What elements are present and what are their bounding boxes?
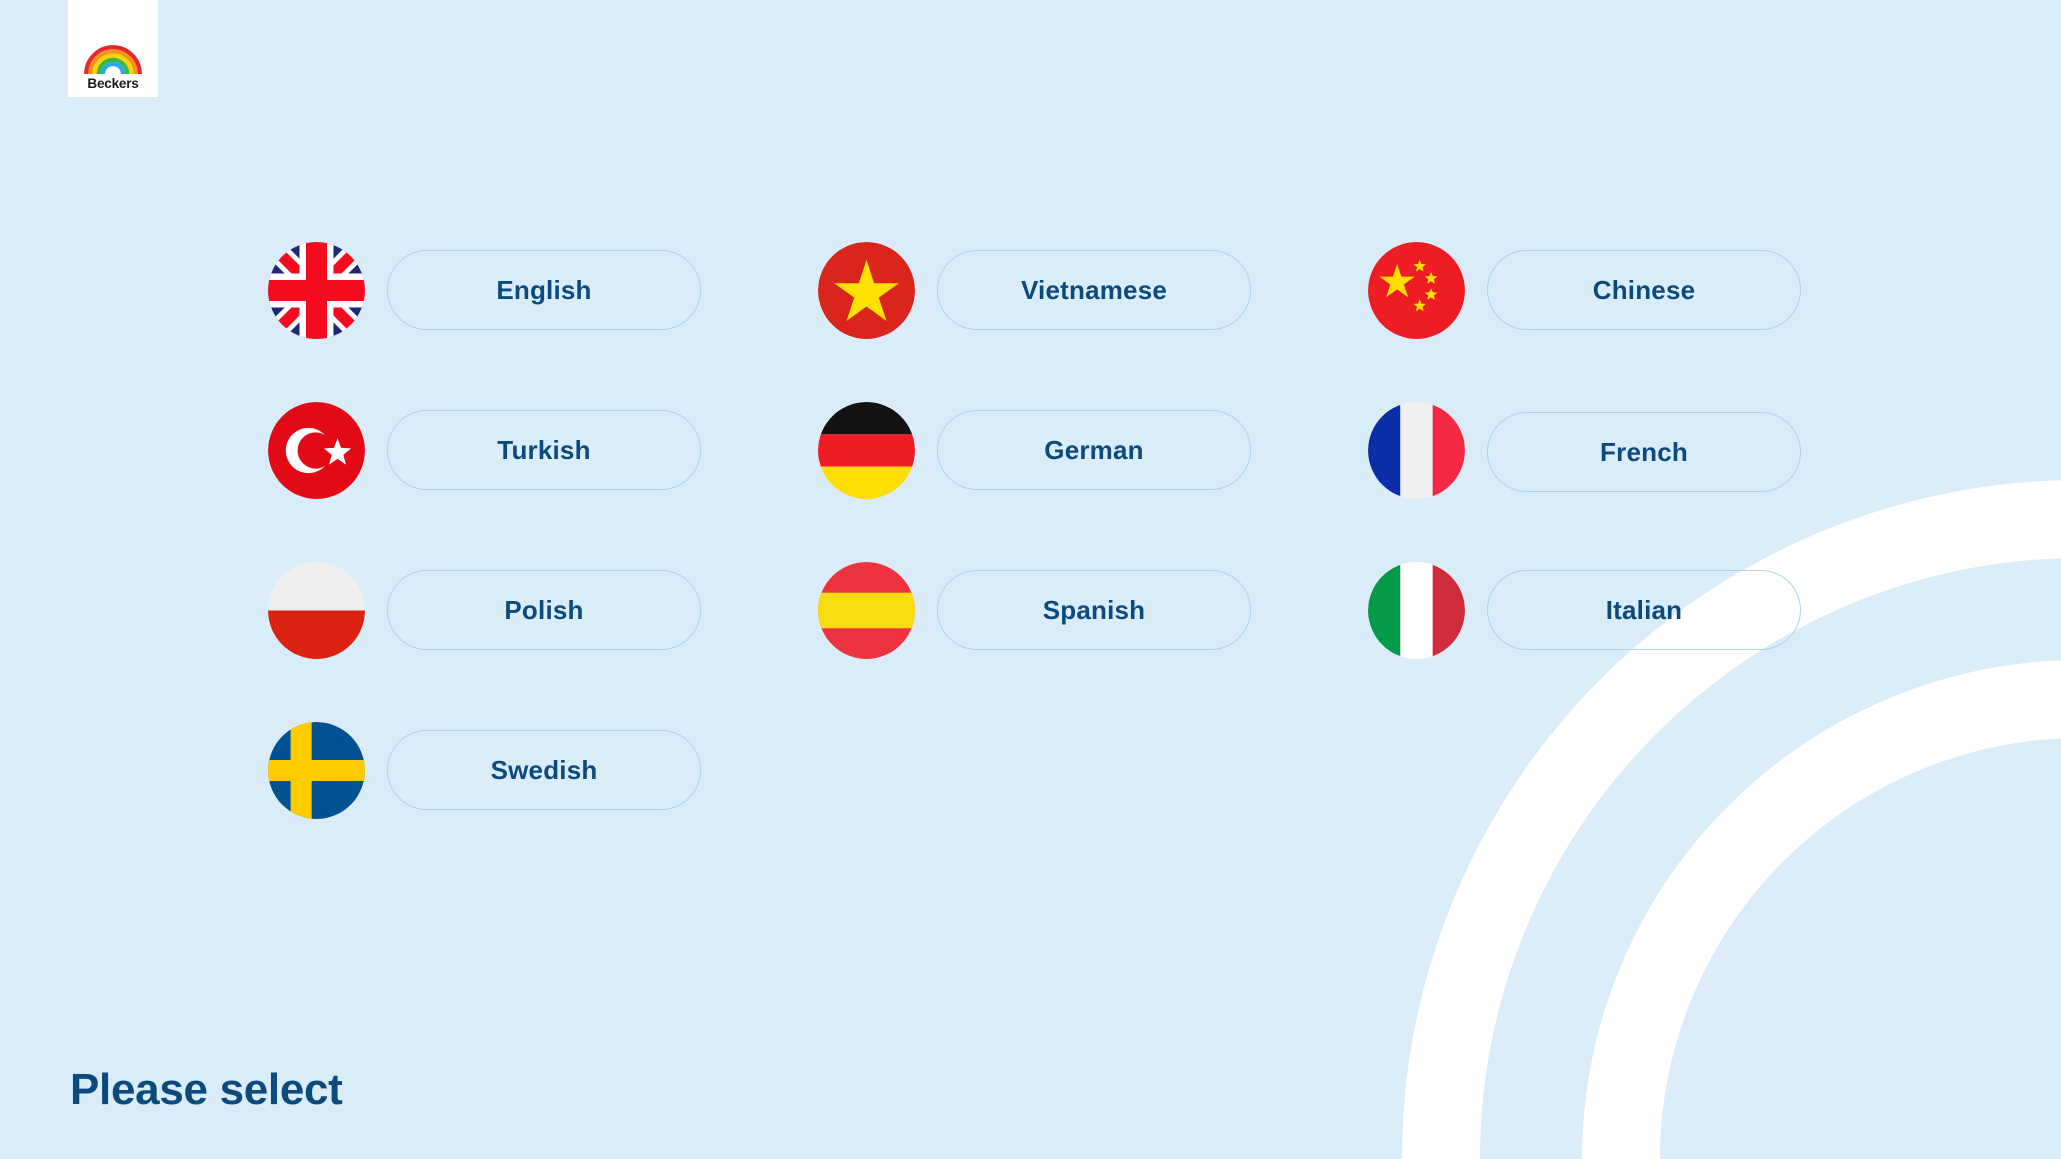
- language-label: Spanish: [1043, 595, 1146, 626]
- flag-vietnam-icon: [818, 242, 915, 339]
- brand-logo: Beckers: [68, 0, 158, 97]
- language-button-swedish[interactable]: Swedish: [387, 730, 701, 810]
- language-label: German: [1044, 435, 1143, 466]
- language-button-italian[interactable]: Italian: [1487, 570, 1801, 650]
- language-button-french[interactable]: French: [1487, 412, 1801, 492]
- language-label: Chinese: [1593, 275, 1696, 306]
- select-language-prompt: Please select your language:: [70, 930, 381, 1159]
- language-option-english[interactable]: English: [268, 210, 818, 370]
- language-button-english[interactable]: English: [387, 250, 701, 330]
- flag-france-icon: [1368, 402, 1465, 499]
- flag-poland-icon: [268, 562, 365, 659]
- flag-germany-icon: [818, 402, 915, 499]
- language-label: Swedish: [491, 755, 598, 786]
- flag-turkey-icon: [268, 402, 365, 499]
- language-option-swedish[interactable]: Swedish: [268, 690, 818, 850]
- rainbow-icon: [83, 44, 143, 75]
- prompt-line-1: Please select: [70, 1058, 381, 1122]
- language-option-german[interactable]: German: [818, 370, 1368, 530]
- language-label: Turkish: [497, 435, 590, 466]
- language-label: Polish: [504, 595, 583, 626]
- language-label: French: [1600, 437, 1688, 468]
- language-button-chinese[interactable]: Chinese: [1487, 250, 1801, 330]
- language-option-italian[interactable]: Italian: [1368, 530, 1918, 690]
- flag-sweden-icon: [268, 722, 365, 819]
- language-label: Italian: [1606, 595, 1683, 626]
- language-button-spanish[interactable]: Spanish: [937, 570, 1251, 650]
- language-label: English: [496, 275, 591, 306]
- logo-wordmark: Beckers: [87, 76, 138, 91]
- flag-spain-icon: [818, 562, 915, 659]
- flag-italy-icon: [1368, 562, 1465, 659]
- language-button-turkish[interactable]: Turkish: [387, 410, 701, 490]
- language-option-turkish[interactable]: Turkish: [268, 370, 818, 530]
- language-option-chinese[interactable]: Chinese: [1368, 210, 1918, 370]
- language-button-vietnamese[interactable]: Vietnamese: [937, 250, 1251, 330]
- language-option-vietnamese[interactable]: Vietnamese: [818, 210, 1368, 370]
- language-grid: English Vietnamese: [268, 210, 1918, 850]
- flag-china-icon: [1368, 242, 1465, 339]
- language-option-polish[interactable]: Polish: [268, 530, 818, 690]
- language-label: Vietnamese: [1021, 275, 1167, 306]
- language-button-german[interactable]: German: [937, 410, 1251, 490]
- language-button-polish[interactable]: Polish: [387, 570, 701, 650]
- language-selection-screen: Beckers English: [0, 0, 2061, 1159]
- language-option-french[interactable]: French: [1368, 370, 1918, 530]
- flag-uk-icon: [268, 242, 365, 339]
- language-option-spanish[interactable]: Spanish: [818, 530, 1368, 690]
